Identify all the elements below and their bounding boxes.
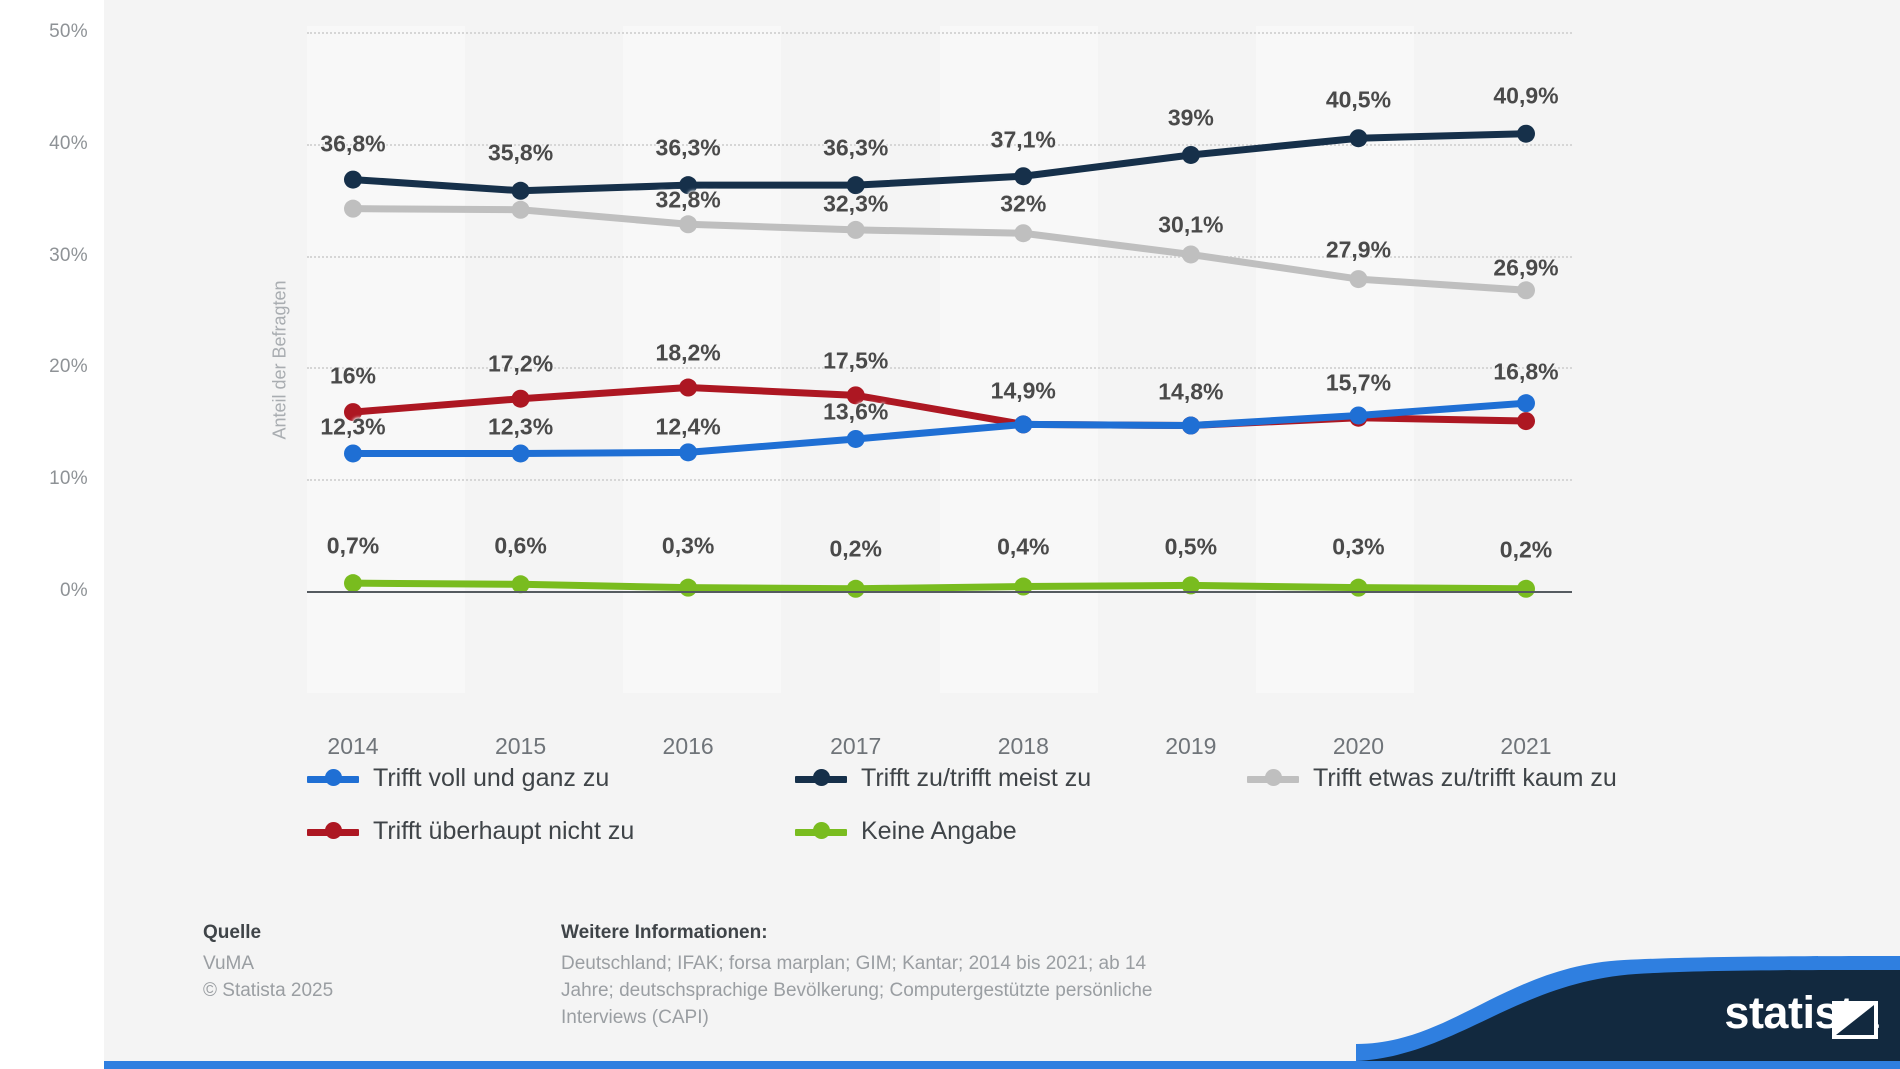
chart-legend: Trifft voll und ganz zu Trifft zu/trifft… [307,752,1597,858]
series-point[interactable] [1349,579,1367,597]
data-label: 35,8% [488,139,553,166]
data-label: 36,3% [823,135,888,162]
legend-label: Trifft überhaupt nicht zu [373,817,634,846]
data-label: 12,3% [488,413,553,440]
legend-item-trifft-zu-trifft-meist-zu[interactable]: Trifft zu/trifft meist zu [795,752,1091,805]
y-axis-tick-label: 40% [49,133,88,155]
data-label: 0,6% [494,533,546,560]
legend-item-trifft-voll-und-ganz-zu[interactable]: Trifft voll und ganz zu [307,752,609,805]
chart-footer: Quelle VuMA © Statista 2025 Weitere Info… [104,900,1900,1069]
series-point[interactable] [1517,580,1535,598]
data-label: 39% [1168,105,1214,132]
series-point[interactable] [1182,417,1200,435]
data-label: 0,7% [327,533,379,560]
data-label: 32,8% [656,186,721,213]
legend-row: Trifft voll und ganz zu Trifft zu/trifft… [307,752,1597,805]
series-point[interactable] [1517,281,1535,299]
y-axis-tick-label: 10% [49,468,88,490]
data-label: 17,5% [823,347,888,374]
data-label: 36,3% [656,135,721,162]
series-point[interactable] [344,200,362,218]
y-axis-tick-label: 20% [49,356,88,378]
info-body: Deutschland; IFAK; forsa marplan; GIM; K… [561,951,1201,1032]
data-label: 16,8% [1493,358,1558,385]
series-point[interactable] [1349,129,1367,147]
x-axis-line [307,591,1572,593]
series-point[interactable] [679,443,697,461]
legend-label: Trifft voll und ganz zu [373,764,609,793]
data-label: 30,1% [1158,212,1223,239]
series-point[interactable] [1517,125,1535,143]
data-label: 16% [330,363,376,390]
data-label: 15,7% [1326,370,1391,397]
data-label: 0,5% [1165,534,1217,561]
series-point[interactable] [1014,167,1032,185]
data-label: 13,6% [823,399,888,426]
data-label: 14,8% [1158,378,1223,405]
series-point[interactable] [1182,146,1200,164]
legend-label: Keine Angabe [861,817,1017,846]
chart-card: Anteil der Befragten 0%10%20%30%40%50% 2… [104,0,1900,1069]
data-label: 26,9% [1493,254,1558,281]
data-label: 0,2% [1500,536,1552,563]
data-label: 18,2% [656,339,721,366]
chart-area: Anteil der Befragten 0%10%20%30%40%50% 2… [104,0,1900,880]
data-label: 37,1% [991,127,1056,154]
source-block: Quelle VuMA © Statista 2025 [203,922,583,1005]
legend-item-trifft-ueberhaupt-nicht-zu[interactable]: Trifft überhaupt nicht zu [307,805,634,858]
page-left-gutter [0,0,104,1069]
series-point[interactable] [512,444,530,462]
data-label: 40,5% [1326,87,1391,114]
series-point[interactable] [679,215,697,233]
series-point[interactable] [847,580,865,598]
data-label: 12,3% [320,413,385,440]
series-point[interactable] [1349,406,1367,424]
data-label: 0,3% [1332,534,1384,561]
data-label: 0,4% [997,534,1049,561]
data-label: 40,9% [1493,82,1558,109]
data-label: 0,3% [662,533,714,560]
series-point[interactable] [512,390,530,408]
copyright-text: © Statista 2025 [203,978,583,1005]
series-point[interactable] [1014,415,1032,433]
line-marker-icon [795,769,847,789]
series-point[interactable] [344,171,362,189]
data-label: 32,3% [823,191,888,218]
source-name: VuMA [203,951,583,978]
data-label: 36,8% [320,130,385,157]
legend-row: Trifft überhaupt nicht zu Keine Angabe [307,805,1597,858]
series-point[interactable] [679,579,697,597]
series-point[interactable] [1182,245,1200,263]
y-axis-title: Anteil der Befragten [270,280,291,439]
additional-info-block: Weitere Informationen: Deutschland; IFAK… [561,922,1201,1032]
bottom-accent-bar [104,1061,1900,1069]
data-label: 17,2% [488,351,553,378]
statista-logo[interactable]: statista [1356,952,1900,1061]
legend-label: Trifft zu/trifft meist zu [861,764,1091,793]
y-axis-tick-label: 30% [49,245,88,267]
series-point[interactable] [1517,394,1535,412]
data-label: 14,9% [991,377,1056,404]
data-label: 0,2% [829,535,881,562]
series-point[interactable] [847,430,865,448]
statista-glyph-icon [1832,1001,1878,1039]
data-label: 32% [1000,191,1046,218]
series-point[interactable] [512,201,530,219]
logo-lockup: statista [1724,987,1878,1039]
line-marker-icon [795,822,847,842]
series-point[interactable] [847,221,865,239]
legend-label: Trifft etwas zu/trifft kaum zu [1313,764,1617,793]
series-point[interactable] [344,444,362,462]
series-point[interactable] [512,182,530,200]
series-point[interactable] [1517,412,1535,430]
y-axis-tick-label: 50% [49,21,88,43]
legend-item-keine-angabe[interactable]: Keine Angabe [795,805,1017,858]
plot-area: 0%10%20%30%40%50% 2014201520162017201820… [307,26,1572,693]
line-marker-icon [1247,769,1299,789]
series-point[interactable] [344,574,362,592]
info-heading: Weitere Informationen: [561,922,1201,944]
line-marker-icon [307,822,359,842]
series-point[interactable] [1349,270,1367,288]
source-heading: Quelle [203,922,583,944]
series-point[interactable] [679,379,697,397]
data-label: 12,4% [656,413,721,440]
legend-item-trifft-etwas-zu-trifft-kaum-zu[interactable]: Trifft etwas zu/trifft kaum zu [1247,752,1617,805]
statista-chart-page: Anteil der Befragten 0%10%20%30%40%50% 2… [0,0,1900,1069]
data-label: 27,9% [1326,237,1391,264]
y-axis-tick-label: 0% [60,580,88,602]
series-point[interactable] [1014,224,1032,242]
line-marker-icon [307,769,359,789]
